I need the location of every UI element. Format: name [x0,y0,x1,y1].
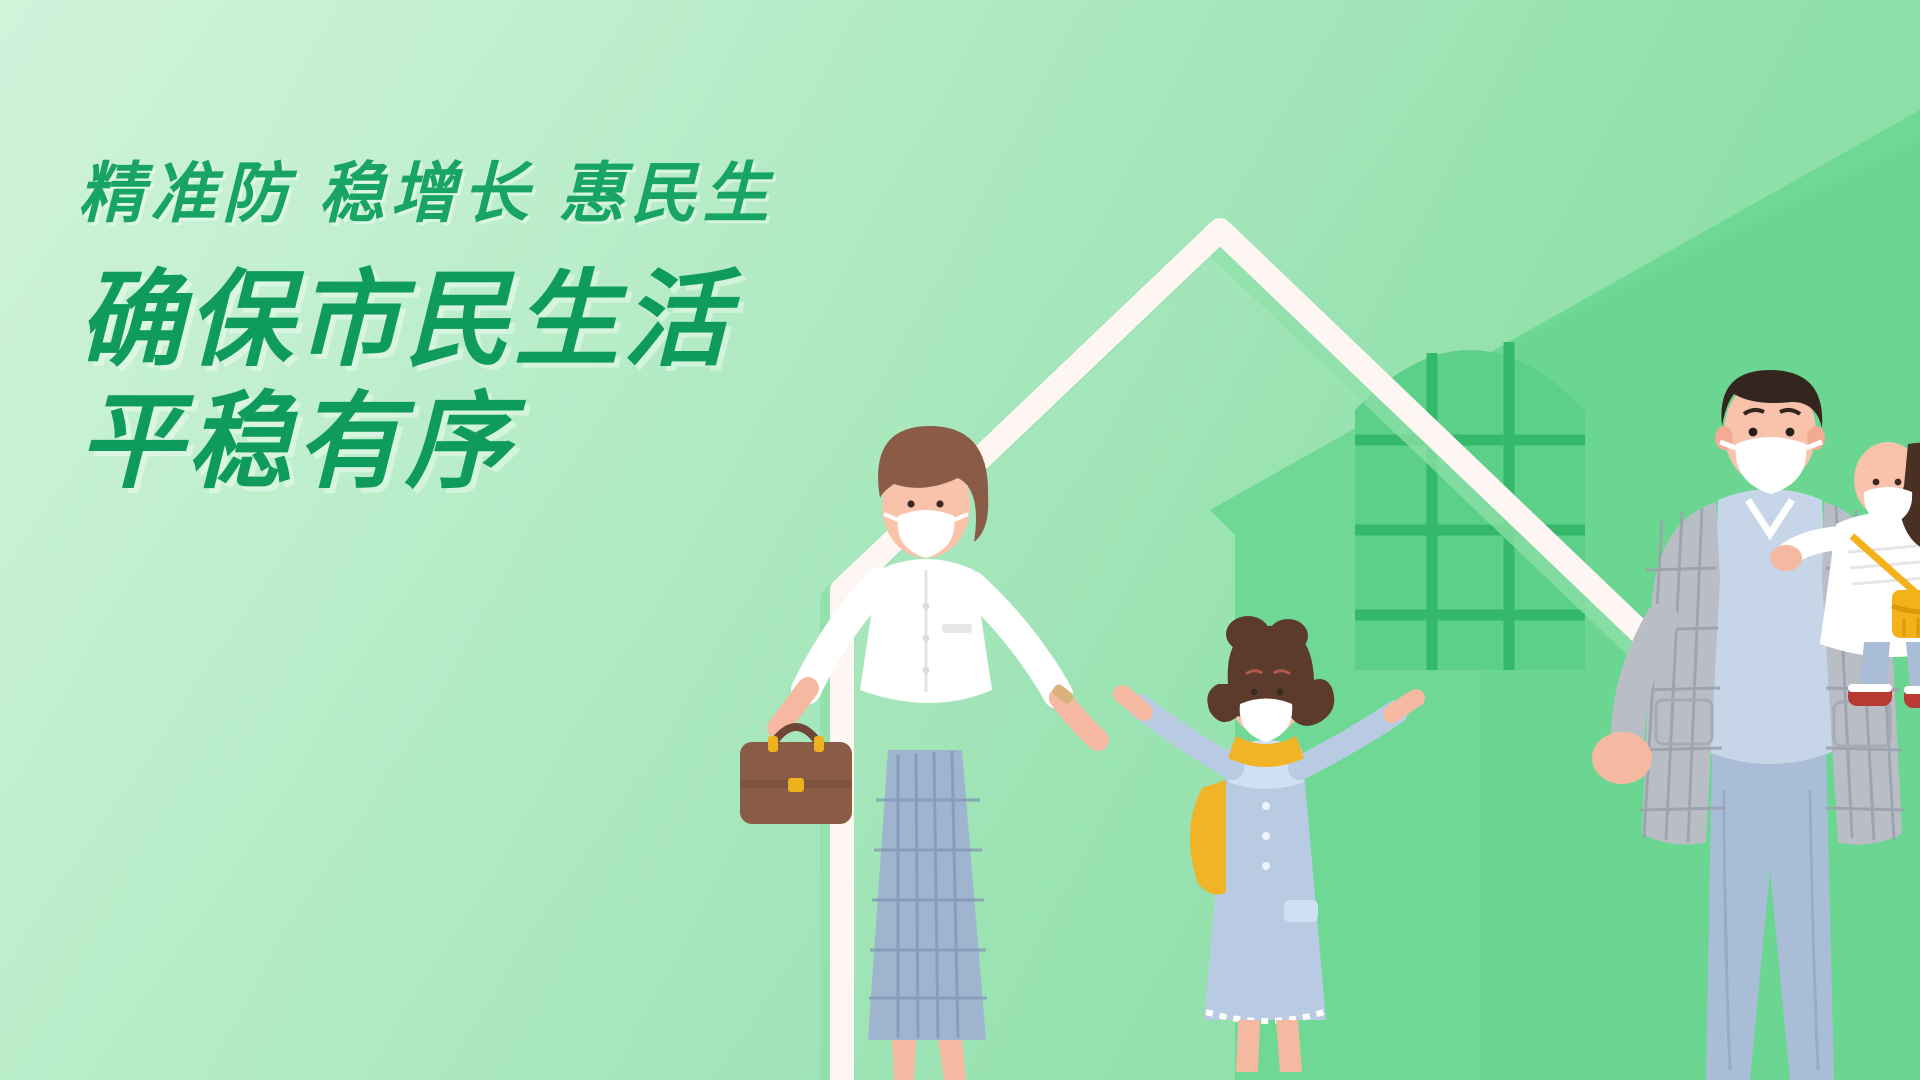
figure-toddler [1780,440,1920,720]
headline-line-1: 确保市民生活 [78,260,958,382]
girl-face-mask [1240,699,1293,743]
headline-text-block: 精准防 稳增长 惠民生 确保市民生活 平稳有序 [78,160,958,504]
kicker-line: 精准防 稳增长 惠民生 [78,160,958,226]
poster-canvas: 精准防 稳增长 惠民生 确保市民生活 平稳有序 [0,0,1920,1080]
main-headline: 确保市民生活 平稳有序 [78,260,958,504]
girl-backpack [1190,780,1226,895]
figure-mother [700,420,1120,1080]
headline-line-2: 平稳有序 [78,382,958,504]
figure-girl [1120,600,1420,1080]
girl-head [1207,616,1334,742]
father-hand [1592,732,1652,784]
briefcase [740,727,852,824]
toddler-shoes [1848,684,1920,708]
